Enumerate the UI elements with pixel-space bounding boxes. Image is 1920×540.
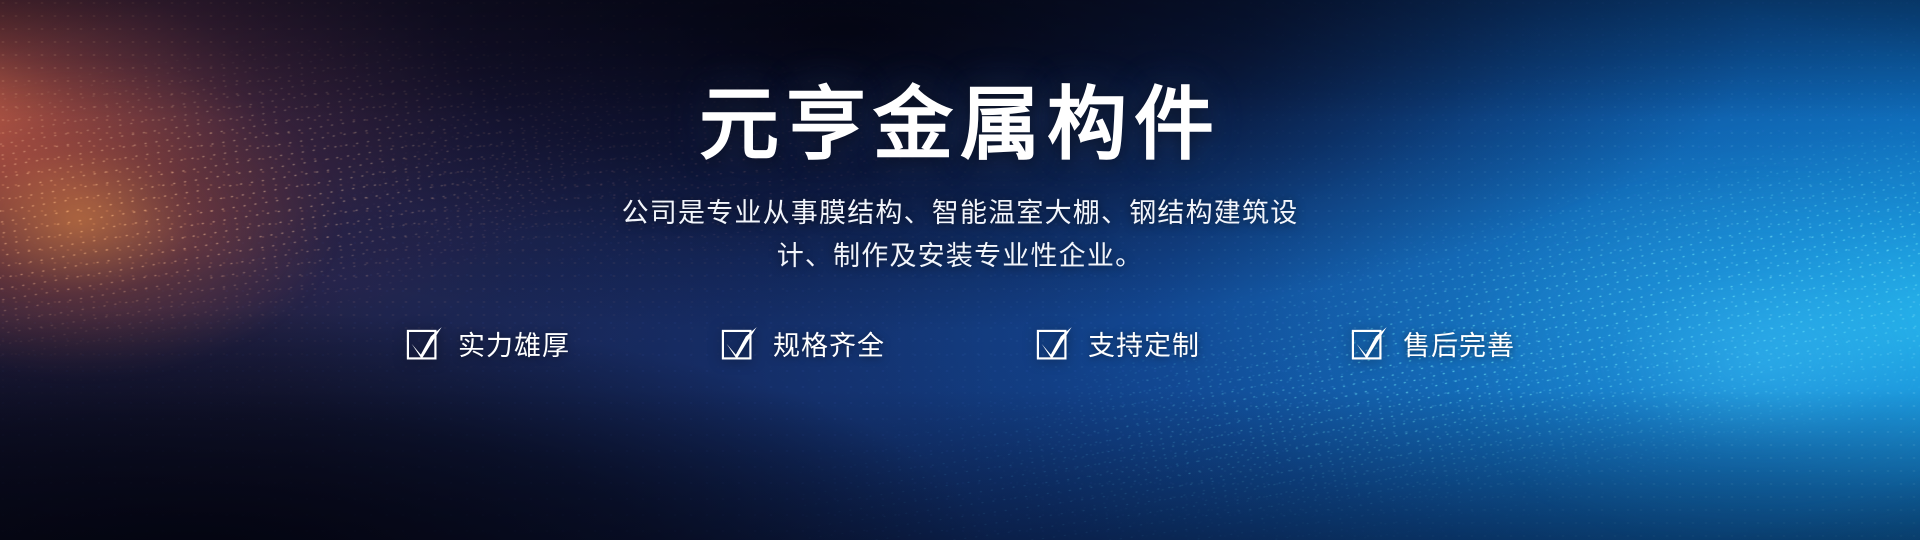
feature-item-after-sales[interactable]: 售后完善 <box>1350 323 1515 363</box>
feature-label: 实力雄厚 <box>458 324 570 363</box>
feature-label: 支持定制 <box>1088 324 1200 363</box>
feature-item-strength[interactable]: 实力雄厚 <box>405 323 570 363</box>
feature-label: 规格齐全 <box>773 324 885 363</box>
feature-label: 售后完善 <box>1403 324 1515 363</box>
banner-subtitle: 公司是专业从事膜结构、智能温室大棚、钢结构建筑设 计、制作及安装专业性企业。 <box>590 192 1330 279</box>
page-title: 元亨金属构件 <box>699 84 1221 166</box>
checkbox-checked-icon <box>720 323 760 363</box>
feature-item-specifications[interactable]: 规格齐全 <box>720 323 885 363</box>
checkbox-checked-icon <box>1350 323 1390 363</box>
checkbox-checked-icon <box>1035 323 1075 363</box>
checkbox-checked-icon <box>405 323 445 363</box>
hero-banner: 元亨金属构件 公司是专业从事膜结构、智能温室大棚、钢结构建筑设 计、制作及安装专… <box>0 0 1920 540</box>
banner-content: 元亨金属构件 公司是专业从事膜结构、智能温室大棚、钢结构建筑设 计、制作及安装专… <box>0 0 1920 540</box>
subtitle-line-1: 公司是专业从事膜结构、智能温室大棚、钢结构建筑设 <box>590 192 1330 236</box>
subtitle-line-2: 计、制作及安装专业性企业。 <box>590 235 1330 279</box>
feature-item-customization[interactable]: 支持定制 <box>1035 323 1200 363</box>
feature-list: 实力雄厚 规格齐全 支持定制 <box>405 323 1515 363</box>
